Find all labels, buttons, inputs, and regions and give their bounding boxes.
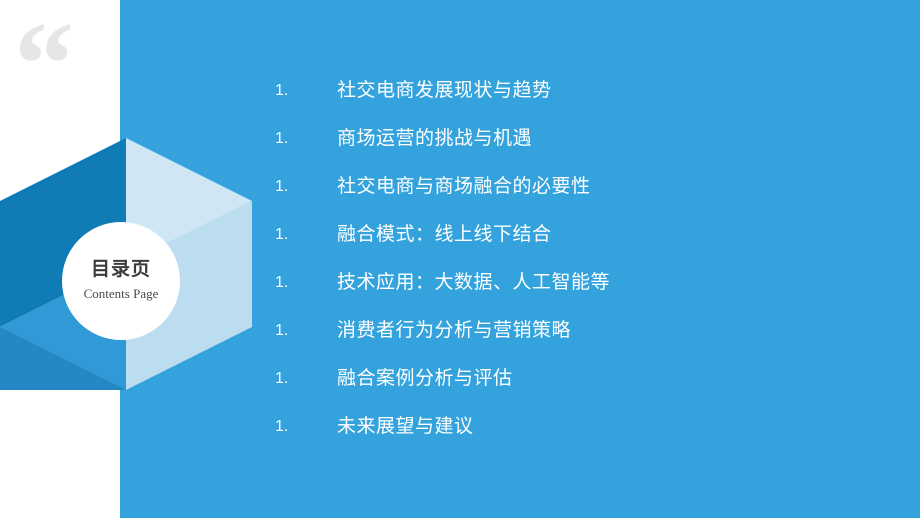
list-item-label: 社交电商发展现状与趋势 (337, 78, 552, 104)
contents-badge-title-cn: 目录页 (91, 257, 151, 283)
list-item-number: 1. (275, 366, 337, 392)
list-item[interactable]: 1. 社交电商发展现状与趋势 (275, 78, 895, 126)
list-item-label: 商场运营的挑战与机遇 (337, 126, 532, 152)
quote-mark-icon: “ (14, 14, 106, 88)
list-item-label: 消费者行为分析与营销策略 (337, 318, 571, 344)
list-item-number: 1. (275, 270, 337, 296)
contents-badge-title-en: Contents Page (84, 283, 159, 305)
list-item-number: 1. (275, 222, 337, 248)
list-item[interactable]: 1. 融合模式：线上线下结合 (275, 222, 895, 270)
list-item-label: 融合案例分析与评估 (337, 366, 513, 392)
list-item-number: 1. (275, 414, 337, 440)
list-item-number: 1. (275, 318, 337, 344)
list-item[interactable]: 1. 技术应用：大数据、人工智能等 (275, 270, 895, 318)
list-item[interactable]: 1. 商场运营的挑战与机遇 (275, 126, 895, 174)
contents-badge: 目录页 Contents Page (62, 222, 180, 340)
list-item-number: 1. (275, 174, 337, 200)
list-item[interactable]: 1. 社交电商与商场融合的必要性 (275, 174, 895, 222)
list-item-number: 1. (275, 126, 337, 152)
list-item-label: 未来展望与建议 (337, 414, 474, 440)
list-item[interactable]: 1. 未来展望与建议 (275, 414, 895, 462)
list-item-number: 1. (275, 78, 337, 104)
list-item[interactable]: 1. 融合案例分析与评估 (275, 366, 895, 414)
list-item-label: 技术应用：大数据、人工智能等 (337, 270, 610, 296)
list-item-label: 社交电商与商场融合的必要性 (337, 174, 591, 200)
slide-root: “ 目录页 Contents Page 1. 社交电商发展现状与趋势 1. 商场… (0, 0, 920, 518)
contents-list: 1. 社交电商发展现状与趋势 1. 商场运营的挑战与机遇 1. 社交电商与商场融… (275, 78, 895, 462)
list-item[interactable]: 1. 消费者行为分析与营销策略 (275, 318, 895, 366)
list-item-label: 融合模式：线上线下结合 (337, 222, 552, 248)
